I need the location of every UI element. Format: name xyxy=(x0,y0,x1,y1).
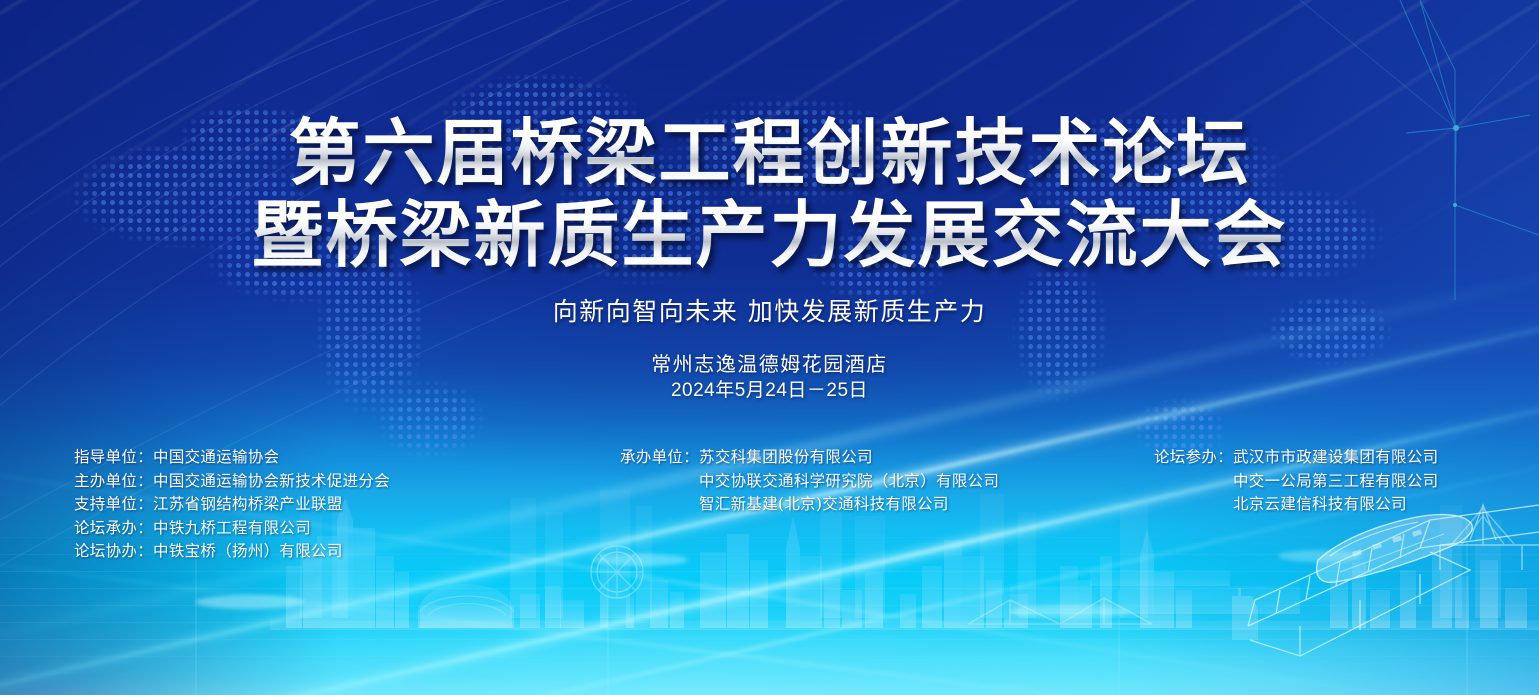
org-label: 指导单位： xyxy=(74,448,153,466)
event-dates: 2024年5月24日－25日 xyxy=(0,378,1539,404)
org-row: 论坛参办：北京云建信科技有限公司 xyxy=(1154,493,1438,517)
organizations-center: 承办单位：苏交科集团股份有限公司 承办单位：中交协联交通科学研究院（北京）有限公… xyxy=(620,446,999,517)
org-row: 论坛参办：中交一公局第三工程有限公司 xyxy=(1154,470,1438,494)
org-label: 论坛协办： xyxy=(74,542,153,560)
title-line-1: 第六届桥梁工程创新技术论坛 xyxy=(0,112,1539,194)
org-name: 北京云建信科技有限公司 xyxy=(1233,495,1407,513)
org-name: 中国交通运输协会新技术促进分会 xyxy=(153,472,390,490)
event-title: 第六届桥梁工程创新技术论坛 暨桥梁新质生产力发展交流大会 xyxy=(0,112,1539,276)
org-row: 论坛承办：中铁九桥工程有限公司 xyxy=(74,517,390,541)
org-row: 承办单位：智汇新基建(北京)交通科技有限公司 xyxy=(620,493,999,517)
organizations-left: 指导单位：中国交通运输协会 主办单位：中国交通运输协会新技术促进分会 支持单位：… xyxy=(74,446,390,564)
conference-banner: 第六届桥梁工程创新技术论坛 暨桥梁新质生产力发展交流大会 向新向智向未来 加快发… xyxy=(0,0,1539,695)
organizations-right: 论坛参办：武汉市市政建设集团有限公司 论坛参办：中交一公局第三工程有限公司 论坛… xyxy=(1154,446,1438,517)
org-label: 论坛承办： xyxy=(74,519,153,537)
org-label: 支持单位： xyxy=(74,495,153,513)
org-row: 论坛参办：武汉市市政建设集团有限公司 xyxy=(1154,446,1438,470)
org-label: 承办单位： xyxy=(620,448,699,466)
org-label: 论坛参办： xyxy=(1154,448,1233,466)
org-name: 苏交科集团股份有限公司 xyxy=(699,448,873,466)
venue-name: 常州志逸温德姆花园酒店 xyxy=(0,351,1539,377)
org-name: 武汉市市政建设集团有限公司 xyxy=(1233,448,1438,466)
org-name: 中国交通运输协会 xyxy=(153,448,279,466)
org-name: 智汇新基建(北京)交通科技有限公司 xyxy=(699,495,949,513)
org-row: 承办单位：中交协联交通科学研究院（北京）有限公司 xyxy=(620,470,999,494)
org-name: 中铁九桥工程有限公司 xyxy=(153,519,311,537)
org-name: 中交一公局第三工程有限公司 xyxy=(1233,472,1438,490)
event-slogan: 向新向智向未来 加快发展新质生产力 xyxy=(0,296,1539,328)
org-name: 中铁宝桥（扬州）有限公司 xyxy=(153,542,343,560)
org-label: 主办单位： xyxy=(74,472,153,490)
org-row: 指导单位：中国交通运输协会 xyxy=(74,446,390,470)
org-row: 主办单位：中国交通运输协会新技术促进分会 xyxy=(74,470,390,494)
venue-and-date: 常州志逸温德姆花园酒店 2024年5月24日－25日 xyxy=(0,351,1539,404)
org-name: 中交协联交通科学研究院（北京）有限公司 xyxy=(699,472,999,490)
title-line-2: 暨桥梁新质生产力发展交流大会 xyxy=(0,194,1539,276)
org-row: 论坛协办：中铁宝桥（扬州）有限公司 xyxy=(74,540,390,564)
org-row: 支持单位：江苏省钢结构桥梁产业联盟 xyxy=(74,493,390,517)
org-row: 承办单位：苏交科集团股份有限公司 xyxy=(620,446,999,470)
org-name: 江苏省钢结构桥梁产业联盟 xyxy=(153,495,343,513)
